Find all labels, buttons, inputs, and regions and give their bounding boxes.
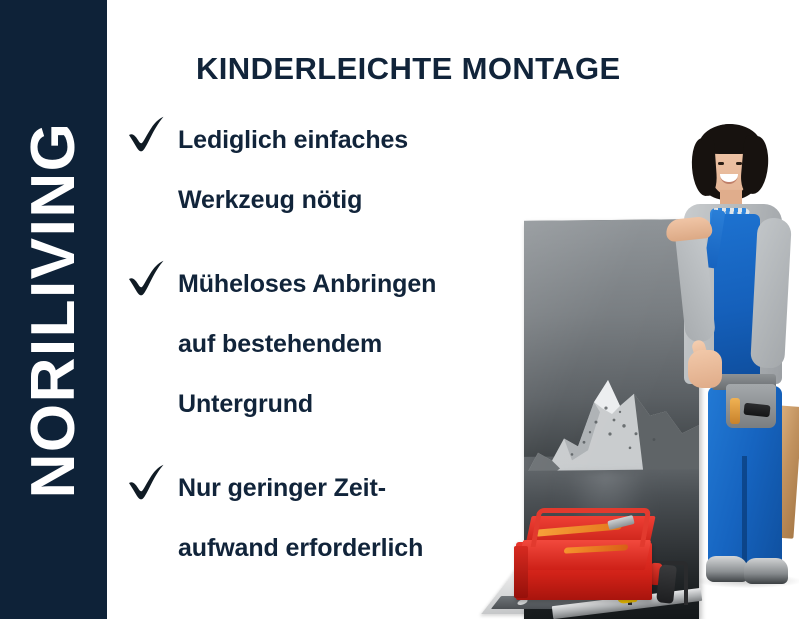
feature-list: Lediglich einfaches Werkzeug nötig Mühel… [126,110,526,578]
list-item: Lediglich einfaches Werkzeug nötig [126,110,526,230]
arm-right [750,217,792,369]
check-icon [126,464,168,500]
promo-banner: NORILIVING KINDERLEICHTE MONTAGE Ledigli… [0,0,799,619]
list-item-line: auf bestehendem [178,314,526,374]
list-item-line: Werkzeug nötig [178,170,526,230]
list-item-text: Lediglich einfaches Werkzeug nötig [178,110,526,230]
hair-left [690,137,718,197]
list-item-line: Müheloses Anbringen [178,254,526,314]
list-item-line: Lediglich einfaches [178,110,526,170]
product-photo [492,96,799,619]
check-icon [126,260,168,296]
list-item: Müheloses Anbringen auf bestehendem Unte… [126,254,526,434]
shoe-left [706,556,748,582]
brand-sidebar: NORILIVING [0,0,107,619]
list-item-text: Müheloses Anbringen auf bestehendem Unte… [178,254,526,434]
shoe-right [744,558,788,584]
check-icon [126,116,168,152]
list-item-line: Nur geringer Zeit- [178,458,526,518]
pouch-tool [743,403,770,418]
list-item-line: aufwand erforderlich [178,518,526,578]
page-title: KINDERLEICHTE MONTAGE [196,51,621,87]
eye-right [736,162,742,165]
toolbox-leg [514,546,528,598]
list-item-text: Nur geringer Zeit- aufwand erforderlich [178,458,526,578]
toolbox-handle [531,508,652,547]
list-item: Nur geringer Zeit- aufwand erforderlich [126,458,526,578]
eye-left [718,162,724,165]
list-item-line: Untergrund [178,374,526,434]
trouser-seam [742,456,747,568]
thumbs-up-hand [688,350,722,388]
pouch-tool [730,398,740,424]
brand-name: NORILIVING [23,121,85,498]
hair-right [740,135,771,195]
worker-figure [652,106,799,616]
toolbox [512,496,662,604]
